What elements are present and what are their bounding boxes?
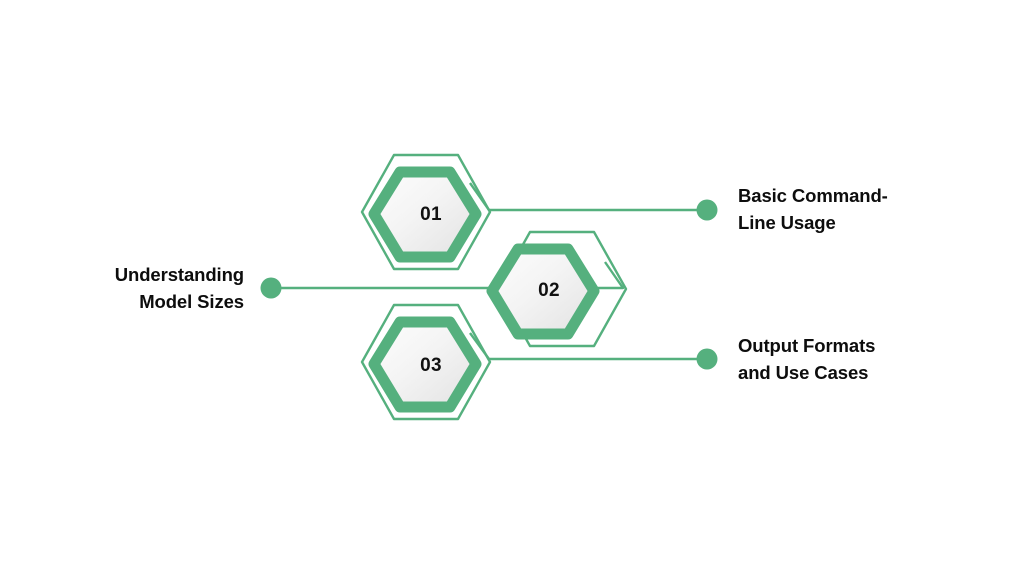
connector-dot-step-1 [697, 200, 718, 221]
hexagon-number-step-2: 02 [502, 281, 596, 300]
step-label-1: Basic Command- Line Usage [738, 182, 988, 236]
step-label-3: Output Formats and Use Cases [738, 332, 988, 386]
connector-line-step-1 [470, 183, 703, 210]
diagram-canvas: 01 02 03 Basic Command- Line Usage Under… [0, 0, 1024, 576]
hexagon-number-step-3: 03 [384, 356, 478, 375]
step-label-2: Understanding Model Sizes [30, 261, 244, 315]
hexagon-number-step-1: 01 [384, 205, 478, 224]
connector-dot-step-3 [697, 349, 718, 370]
connector-dot-step-2 [261, 278, 282, 299]
